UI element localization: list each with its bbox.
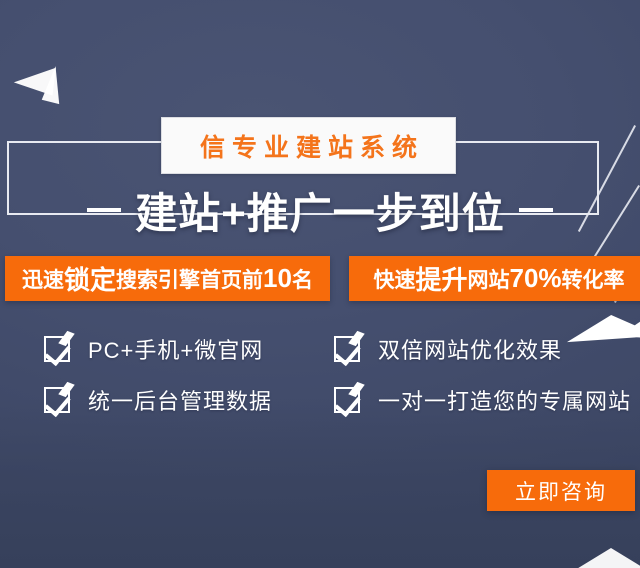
badge-2-mid: 网站 — [467, 264, 509, 294]
badge-1-emphasis: 锁定 — [64, 260, 116, 297]
status-badge-seo-ranking: 迅速 锁定 搜索引擎首页前 10 名 — [5, 256, 330, 301]
triangle-decoration-bottom-icon — [575, 548, 640, 568]
badge-1-mid: 搜索引擎首页前 — [116, 264, 263, 294]
badge-1-lead: 迅速 — [22, 264, 64, 294]
badge-1-number: 10 — [263, 263, 292, 294]
feature-item-label: PC+手机+微官网 — [88, 333, 263, 365]
headline-dash-left — [87, 208, 121, 212]
consult-now-button[interactable]: 立即咨询 — [487, 470, 635, 511]
checkbox-checked-icon — [44, 387, 70, 413]
feature-item-4: 一对一打造您的专属网站 — [334, 384, 631, 416]
checkbox-checked-icon — [44, 336, 70, 362]
feature-item-label: 一对一打造您的专属网站 — [378, 384, 631, 416]
badge-2-number: 70% — [509, 263, 561, 294]
feature-item-3: 统一后台管理数据 — [44, 384, 334, 416]
checkbox-checked-icon — [334, 387, 360, 413]
feature-list: PC+手机+微官网 双倍网站优化效果 统一后台管理数据 一对一打造您的专属网站 — [44, 333, 604, 416]
badge-1-tail: 名 — [292, 264, 313, 294]
page-title: 建站+推广一步到位 — [0, 179, 640, 241]
feature-item-label: 统一后台管理数据 — [88, 384, 272, 416]
feature-item-1: PC+手机+微官网 — [44, 333, 334, 365]
headline-text: 建站+推广一步到位 — [135, 180, 505, 241]
subtitle-label-box: 信专业建站系统 — [161, 117, 456, 174]
checkbox-checked-icon — [334, 336, 360, 362]
subtitle-text: 信专业建站系统 — [193, 128, 424, 164]
status-badge-conversion-rate: 快速 提升 网站 70% 转化率 — [349, 256, 640, 301]
highlight-badges: 迅速 锁定 搜索引擎首页前 10 名 快速 提升 网站 70% 转化率 — [0, 256, 640, 301]
paper-plane-wing-icon — [42, 64, 65, 104]
promo-banner: 信专业建站系统 建站+推广一步到位 迅速 锁定 搜索引擎首页前 10 名 快速 … — [0, 0, 640, 568]
headline-dash-right — [519, 208, 553, 212]
badge-2-tail: 转化率 — [562, 264, 625, 294]
feature-item-label: 双倍网站优化效果 — [378, 333, 562, 365]
badge-2-emphasis: 提升 — [415, 260, 467, 297]
badge-2-lead: 快速 — [373, 264, 415, 294]
feature-item-2: 双倍网站优化效果 — [334, 333, 631, 365]
